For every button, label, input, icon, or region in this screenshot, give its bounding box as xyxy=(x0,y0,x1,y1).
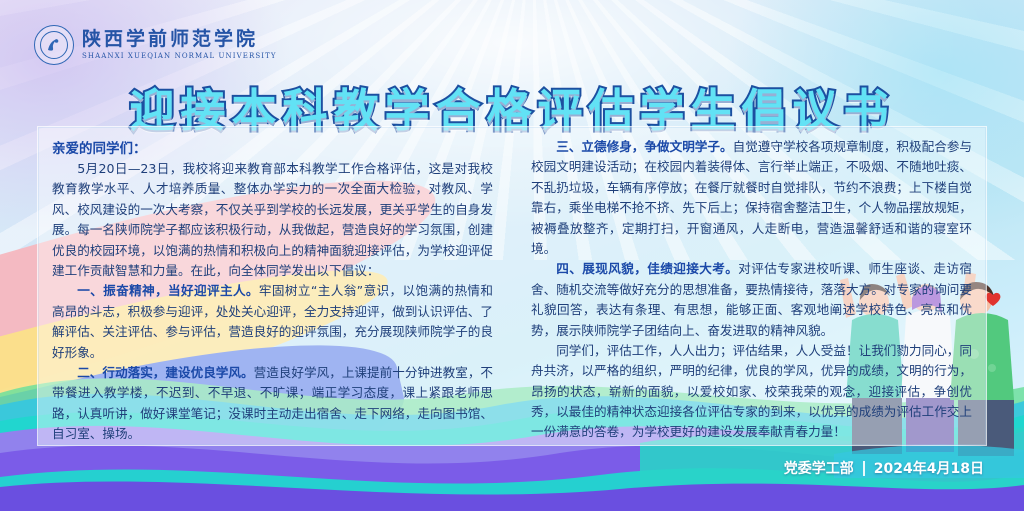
paragraph-item-2: 二、行动落实，建设优良学风。营造良好学风，上课提前十分钟进教室，不带餐进入教学楼… xyxy=(52,363,493,445)
university-seal-icon xyxy=(34,25,74,65)
closing-text: 同学们，评估工作，人人出力；评估结果，人人受益！让我们勠力同心，同舟共济，以严格… xyxy=(531,343,972,440)
university-name-en: SHAANXI XUEQIAN NORMAL UNIVERSITY xyxy=(82,53,277,60)
paragraph-item-3: 三、立德修身，争做文明学子。自觉遵守学校各项规章制度，积极配合参与校园文明建设活… xyxy=(531,137,972,259)
item-3-text: 自觉遵守学校各项规章制度，积极配合参与校园文明建设活动；在校园内着装得体、言行举… xyxy=(531,139,972,256)
paragraph-intro: 5月20日—23日，我校将迎来教育部本科教学工作合格评估，这是对我校教育教学水平… xyxy=(52,159,493,281)
paragraph-item-4: 四、展现风貌，佳绩迎接大考。对评估专家进校听课、师生座谈、走访宿舍、随机交流等做… xyxy=(531,259,972,341)
left-column: 亲爱的同学们： 5月20日—23日，我校将迎来教育部本科教学工作合格评估，这是对… xyxy=(52,137,493,437)
paragraph-item-1: 一、振奋精神，当好迎评主人。牢固树立“主人翁”意识，以饱满的热情和高昂的斗志，积… xyxy=(52,281,493,363)
item-3-lead: 三、立德修身，争做文明学子。 xyxy=(556,139,732,154)
item-4-lead: 四、展现风貌，佳绩迎接大考。 xyxy=(556,261,738,276)
item-2-lead: 二、行动落实，建设优良学风。 xyxy=(77,365,253,380)
paragraph-closing: 同学们，评估工作，人人出力；评估结果，人人受益！让我们勠力同心，同舟共济，以严格… xyxy=(531,341,972,443)
salutation: 亲爱的同学们： xyxy=(52,137,493,157)
university-name-cn: 陕西学前师范学院 xyxy=(82,30,277,49)
university-logo: 陕西学前师范学院 SHAANXI XUEQIAN NORMAL UNIVERSI… xyxy=(34,25,277,65)
heart-icon xyxy=(985,292,1000,306)
poster-canvas: 陕西学前师范学院 SHAANXI XUEQIAN NORMAL UNIVERSI… xyxy=(0,0,1024,511)
item-1-lead: 一、振奋精神，当好迎评主人。 xyxy=(77,283,259,298)
footer-signature: 党委学工部 2024年4月18日 xyxy=(784,458,984,478)
paragraph-intro-text: 5月20日—23日，我校将迎来教育部本科教学工作合格评估，这是对我校教育教学水平… xyxy=(52,161,493,278)
issue-date: 2024年4月18日 xyxy=(874,458,984,478)
signature-separator xyxy=(863,461,865,476)
right-column: 三、立德修身，争做文明学子。自觉遵守学校各项规章制度，积极配合参与校园文明建设活… xyxy=(531,137,972,437)
issuer-label: 党委学工部 xyxy=(784,458,854,478)
content-panel: 亲爱的同学们： 5月20日—23日，我校将迎来教育部本科教学工作合格评估，这是对… xyxy=(37,126,987,446)
